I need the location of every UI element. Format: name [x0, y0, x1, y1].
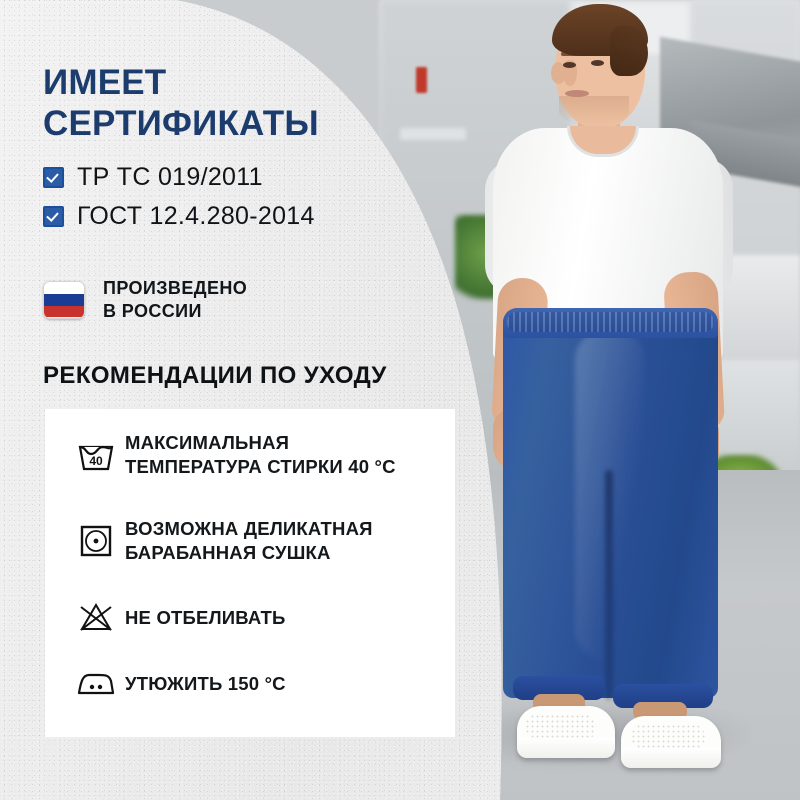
care-section-title: РЕКОМЕНДАЦИИ ПО УХОДУ — [43, 362, 387, 390]
certificate-list: ТР ТС 019/2011 ГОСТ 12.4.280-2014 — [43, 163, 315, 241]
model-jaw-shade — [559, 96, 629, 126]
headline-line-2: СЕРТИФИКАТЫ — [43, 103, 319, 144]
wash-tub-40-icon: 40 — [67, 435, 125, 475]
care-line-1: МАКСИМАЛЬНАЯ — [125, 431, 396, 455]
care-item: УТЮЖИТЬ 150 °C — [67, 667, 447, 701]
made-in-russia-badge: ПРОИЗВЕДЕНО В РОССИИ — [43, 277, 247, 322]
care-item: НЕ ОТБЕЛИВАТЬ — [67, 599, 447, 637]
checkbox-checked-icon — [43, 167, 64, 188]
made-in-line-1: ПРОИЗВЕДЕНО — [103, 277, 247, 300]
made-in-line-2: В РОССИИ — [103, 300, 247, 323]
care-item: ВОЗМОЖНА ДЕЛИКАТНАЯ БАРАБАННАЯ СУШКА — [67, 517, 447, 566]
product-infographic: ИМЕЕТ СЕРТИФИКАТЫ ТР ТС 019/2011 ГОСТ 12… — [0, 0, 800, 800]
care-instructions-card: 40 МАКСИМАЛЬНАЯ ТЕМПЕРАТУРА СТИРКИ 40 °C… — [45, 409, 455, 737]
certificate-item: ГОСТ 12.4.280-2014 — [43, 202, 315, 231]
care-line-1: НЕ ОТБЕЛИВАТЬ — [125, 606, 286, 630]
care-item-text: НЕ ОТБЕЛИВАТЬ — [125, 606, 286, 630]
care-item-text: УТЮЖИТЬ 150 °C — [125, 672, 286, 696]
headline-line-1: ИМЕЕТ — [43, 62, 319, 103]
model-eye — [563, 62, 576, 68]
care-item-text: ВОЗМОЖНА ДЕЛИКАТНАЯ БАРАБАННАЯ СУШКА — [125, 517, 373, 566]
care-item-text: МАКСИМАЛЬНАЯ ТЕМПЕРАТУРА СТИРКИ 40 °C — [125, 431, 396, 480]
waistband-elastic — [507, 312, 714, 332]
model-eye — [591, 60, 604, 66]
model-hair-side — [610, 26, 648, 76]
model-figure — [455, 0, 800, 800]
page-title: ИМЕЕТ СЕРТИФИКАТЫ — [43, 62, 319, 145]
care-line-1: УТЮЖИТЬ 150 °C — [125, 672, 286, 696]
trouser-leg-split — [605, 470, 613, 700]
shoe-perforation — [525, 714, 597, 740]
care-line-2: БАРАБАННАЯ СУШКА — [125, 541, 373, 565]
care-item: 40 МАКСИМАЛЬНАЯ ТЕМПЕРАТУРА СТИРКИ 40 °C — [67, 431, 447, 480]
shoe-perforation — [631, 724, 705, 750]
wash-temp-value: 40 — [89, 454, 103, 468]
certificate-item: ТР ТС 019/2011 — [43, 163, 315, 192]
fire-alarm-icon — [416, 67, 427, 93]
made-in-russia-text: ПРОИЗВЕДЕНО В РОССИИ — [103, 277, 247, 322]
care-line-2: ТЕМПЕРАТУРА СТИРКИ 40 °C — [125, 455, 396, 479]
care-line-1: ВОЗМОЖНА ДЕЛИКАТНАЯ — [125, 517, 373, 541]
tumble-dry-low-icon — [67, 521, 125, 561]
do-not-bleach-icon — [67, 599, 125, 637]
certificate-label: ГОСТ 12.4.280-2014 — [77, 202, 315, 231]
russia-flag-icon — [43, 281, 85, 319]
certificate-label: ТР ТС 019/2011 — [77, 163, 263, 192]
checkbox-checked-icon — [43, 206, 64, 227]
iron-two-dots-icon — [67, 667, 125, 701]
